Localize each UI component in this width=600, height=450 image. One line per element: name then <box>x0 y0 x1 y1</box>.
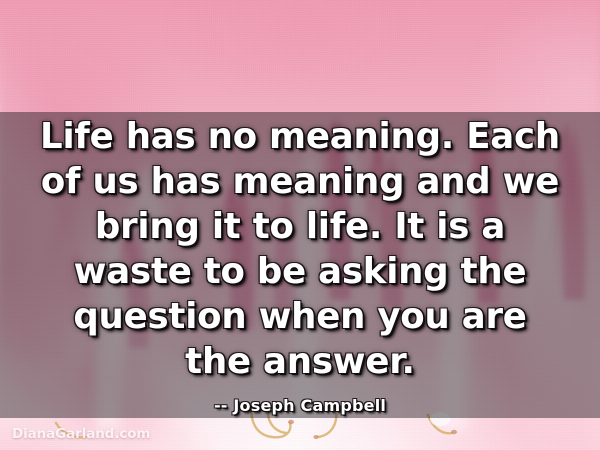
quote-attribution: -- Joseph Campbell <box>6 396 594 416</box>
quote-block: Life has no meaning. Each of us has mean… <box>0 114 600 416</box>
quote-image: Life has no meaning. Each of us has mean… <box>0 0 600 450</box>
watermark-text: DianaGarland.com <box>12 426 150 442</box>
quote-text: Life has no meaning. Each of us has mean… <box>6 114 594 384</box>
